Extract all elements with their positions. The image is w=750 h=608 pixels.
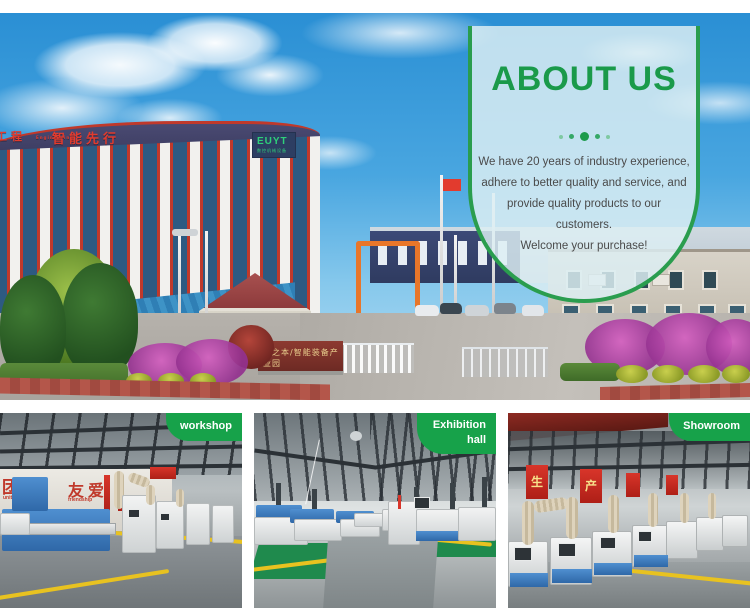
thumbnail-workshop[interactable]: 团 结 友 爱 unit friendship	[0, 413, 242, 608]
parked-car	[415, 305, 439, 316]
cnc-machine-gantry	[12, 477, 48, 511]
thumbnail-showroom[interactable]: 生 产	[508, 413, 750, 608]
conifer-bush	[62, 263, 138, 375]
solar-lamp-panel	[172, 229, 198, 236]
control-screen	[160, 513, 170, 521]
logo-subtext: 数控机械设备	[257, 148, 287, 154]
wall-en: friendship	[68, 497, 92, 503]
about-line: adhere to better quality and service, an…	[478, 173, 690, 194]
stone-sign-text: 国之本/智能装备产业园	[263, 347, 343, 369]
wall-en: unit	[3, 495, 12, 501]
control-screen	[514, 547, 532, 561]
machine-unit	[294, 519, 342, 541]
dust-duct	[680, 493, 689, 523]
tag-label-line2: hall	[433, 433, 486, 448]
machine-base	[510, 573, 548, 587]
machine-unit	[458, 507, 496, 541]
tag-label: Showroom	[683, 420, 740, 432]
dot-icon	[569, 134, 574, 139]
accordion-gate	[462, 347, 548, 377]
tag-workshop: workshop	[166, 413, 242, 441]
about-us-description: We have 20 years of industry experience,…	[478, 152, 690, 257]
parked-car	[494, 303, 516, 314]
dust-duct	[566, 497, 578, 539]
logo-text: EUYT	[257, 136, 288, 147]
red-banner-char: 产	[580, 469, 602, 503]
about-line: We have 20 years of industry experience,	[478, 152, 690, 173]
parked-car	[440, 303, 462, 314]
machine-panel	[0, 513, 30, 535]
tag-exhibition-hall: Exhibition hall	[417, 413, 496, 454]
thumbnail-exhibition-hall[interactable]: Exhibition hall	[254, 413, 496, 608]
dust-duct	[608, 495, 619, 533]
red-sign	[150, 467, 176, 479]
machine-base	[634, 555, 668, 567]
dot-icon	[559, 135, 563, 139]
brick-kerb	[600, 383, 750, 400]
machine-unit	[696, 517, 724, 551]
machine-base	[552, 569, 592, 583]
flag	[443, 179, 461, 191]
tag-showroom: Showroom	[669, 413, 750, 441]
control-screen	[600, 537, 616, 549]
hero-factory-photo: 工程 Engineering 智能先行 EUYT 数控机械设备	[0, 13, 750, 400]
dot-icon	[595, 134, 600, 139]
tag-label: workshop	[180, 420, 232, 432]
yellow-shrub	[688, 365, 720, 383]
machine-cabinet	[186, 503, 210, 545]
orange-gantry-crane	[356, 241, 420, 313]
tag-label-line1: Exhibition	[433, 418, 486, 433]
control-screen	[638, 531, 652, 542]
yellow-shrub	[616, 365, 648, 383]
machine-cabinet	[212, 505, 234, 543]
hedge	[560, 363, 620, 381]
about-us-title: ABOUT US	[472, 60, 696, 99]
building-sign-left: 工程	[0, 128, 26, 144]
decorative-dots	[472, 132, 696, 141]
building-sign-mid: 智能先行	[52, 128, 120, 147]
red-banner-char: 生	[526, 465, 548, 499]
about-us-banner: 工程 Engineering 智能先行 EUYT 数控机械设备	[0, 0, 750, 608]
machine-unit	[722, 515, 748, 547]
control-screen	[414, 497, 430, 509]
control-screen	[558, 543, 576, 557]
yellow-shrub	[722, 365, 750, 383]
control-screen	[128, 509, 140, 518]
dot-icon	[606, 135, 610, 139]
dot-icon	[580, 132, 589, 141]
about-line: provide quality products to our customer…	[478, 194, 690, 236]
dust-duct	[146, 485, 155, 505]
ceiling-lamp	[350, 431, 362, 441]
machine-unit	[666, 521, 698, 559]
machine-base	[594, 563, 632, 575]
company-logo-sign: EUYT 数控机械设备	[252, 132, 296, 158]
machine-cabinet	[156, 501, 184, 549]
yellow-shrub	[652, 365, 684, 383]
dust-duct	[522, 501, 534, 545]
dust-duct	[648, 493, 658, 527]
dust-duct	[176, 489, 184, 507]
thumbnail-row: 团 结 友 爱 unit friendship	[0, 413, 750, 608]
about-us-shield-panel: ABOUT US We have 20 years of industry ex…	[468, 26, 700, 303]
parked-car	[465, 305, 489, 316]
dust-duct	[708, 493, 716, 519]
machine-flag	[398, 495, 401, 509]
red-banner	[104, 475, 110, 513]
parked-car	[522, 305, 544, 316]
about-line: Welcome your purchase!	[478, 236, 690, 257]
